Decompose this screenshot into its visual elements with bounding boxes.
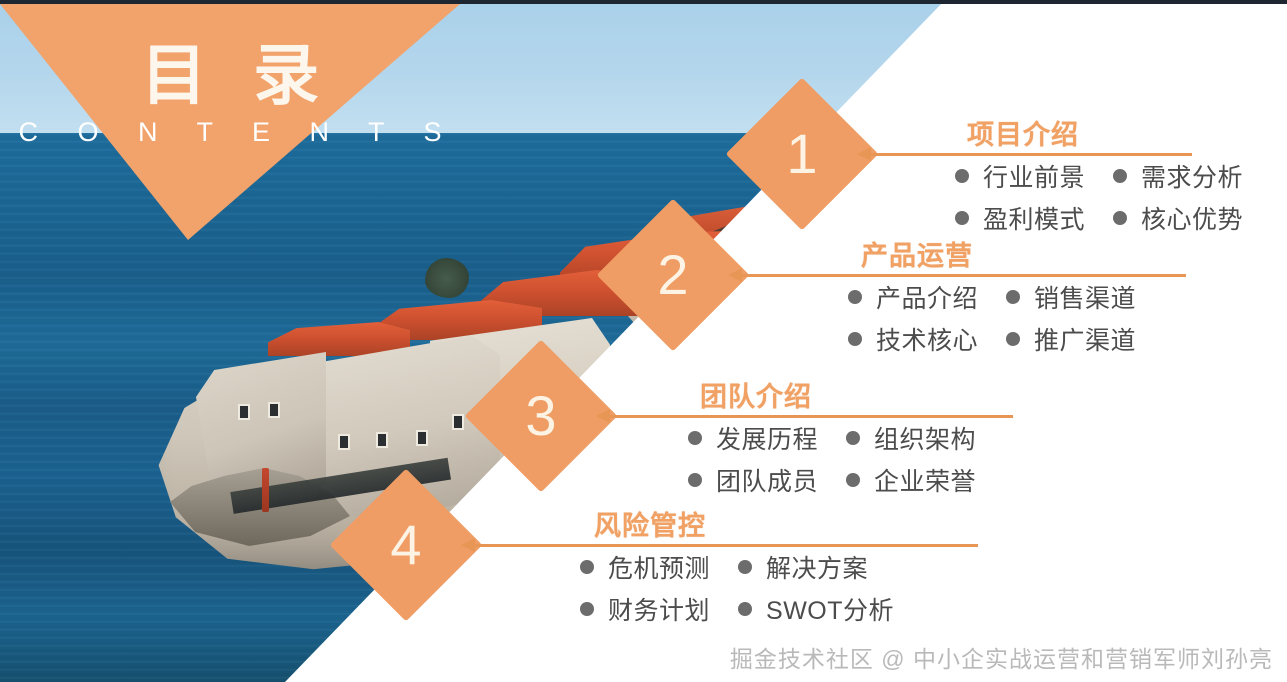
list-item[interactable]: 需求分析: [1113, 158, 1243, 194]
bullet-icon: [580, 560, 594, 574]
section-2-number: 2: [619, 221, 727, 329]
list-item[interactable]: 行业前景: [955, 158, 1085, 194]
bullet-icon: [848, 290, 862, 304]
bullet-icon: [1113, 211, 1127, 225]
bullet-icon: [688, 473, 702, 487]
bullet-icon: [846, 473, 860, 487]
top-border-bar: [0, 0, 1287, 4]
list-item[interactable]: SWOT分析: [738, 591, 894, 627]
section-1-number: 1: [748, 100, 856, 208]
section-2-items: 产品介绍 销售渠道 技术核心 推广渠道: [848, 279, 1136, 357]
bullet-icon: [688, 431, 702, 445]
list-item[interactable]: 推广渠道: [1006, 321, 1136, 357]
bullet-icon: [955, 211, 969, 225]
list-item[interactable]: 技术核心: [848, 321, 978, 357]
contents-slide: 目 录 C O N T E N T S 1 项目介绍 行业前景 需求分析 盈利模…: [0, 0, 1287, 682]
section-2-rule: [741, 274, 1186, 277]
section-4-title: 风险管控: [594, 504, 706, 543]
bullet-icon: [955, 169, 969, 183]
list-item[interactable]: 解决方案: [738, 549, 894, 585]
section-1-title: 项目介绍: [967, 113, 1079, 152]
list-item[interactable]: 团队成员: [688, 462, 818, 498]
section-3-number: 3: [487, 362, 595, 470]
list-item[interactable]: 产品介绍: [848, 279, 978, 315]
section-1-items: 行业前景 需求分析 盈利模式 核心优势: [955, 158, 1243, 236]
list-item[interactable]: 盈利模式: [955, 200, 1085, 236]
list-item[interactable]: 发展历程: [688, 420, 818, 456]
section-3-rule: [609, 415, 1013, 418]
section-3-title: 团队介绍: [700, 375, 812, 414]
bullet-icon: [848, 332, 862, 346]
section-1-rule: [870, 153, 1192, 156]
bullet-icon: [738, 602, 752, 616]
bullet-icon: [846, 431, 860, 445]
bullet-icon: [580, 602, 594, 616]
section-4-items: 危机预测 解决方案 财务计划 SWOT分析: [580, 549, 894, 627]
list-item[interactable]: 销售渠道: [1006, 279, 1136, 315]
bullet-icon: [738, 560, 752, 574]
list-item[interactable]: 企业荣誉: [846, 462, 976, 498]
crane-post: [262, 468, 269, 512]
list-item[interactable]: 危机预测: [580, 549, 710, 585]
section-4-rule: [474, 544, 978, 547]
section-3-items: 发展历程 组织架构 团队成员 企业荣誉: [688, 420, 976, 498]
list-item[interactable]: 组织架构: [846, 420, 976, 456]
list-item[interactable]: 核心优势: [1113, 200, 1243, 236]
section-2-title: 产品运营: [861, 234, 973, 273]
watermark-text: 掘金技术社区 @ 中小企实战运营和营销军师刘孙亮: [730, 640, 1273, 674]
list-item[interactable]: 财务计划: [580, 591, 710, 627]
bullet-icon: [1006, 332, 1020, 346]
section-4-number: 4: [352, 491, 460, 599]
bullet-icon: [1006, 290, 1020, 304]
bullet-icon: [1113, 169, 1127, 183]
